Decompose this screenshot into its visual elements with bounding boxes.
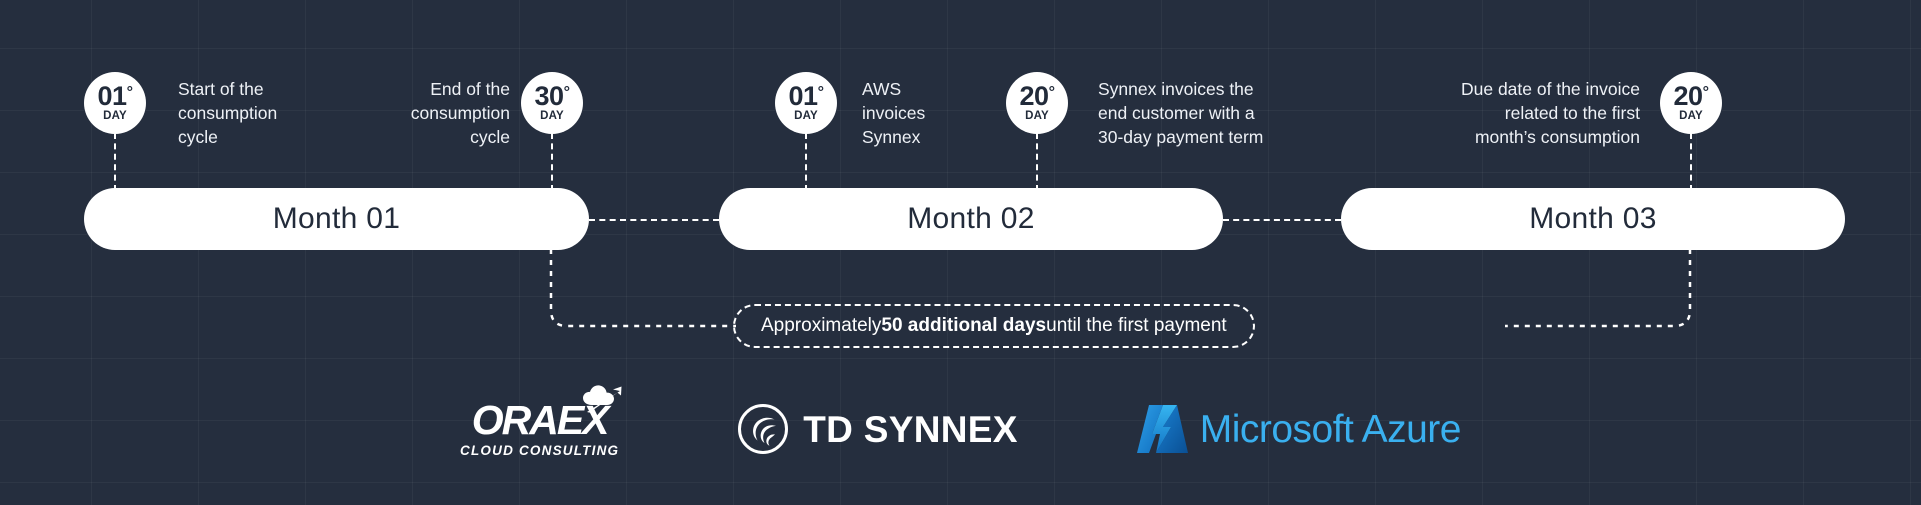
callout-suffix: until the first payment [1046, 315, 1227, 337]
callout-prefix: Approximately [761, 315, 881, 337]
milestone-caption-m2-aws: AWS invoices Synnex [862, 78, 1012, 150]
milestone-badge-m3-due-date[interactable]: 20° DAY [1660, 72, 1722, 134]
degree-icon: ° [127, 85, 133, 101]
badge-day-number-m1-end: 30° [535, 84, 570, 110]
milestone-caption-m1-end: End of the consumption cycle [330, 78, 510, 150]
degree-icon: ° [818, 85, 824, 101]
oraex-tagline: CLOUD CONSULTING [460, 444, 619, 458]
badge-day-label-m1-end: DAY [540, 111, 564, 123]
badge-day-number-m2-aws: 01° [789, 84, 824, 110]
logo-microsoft-azure: Microsoft Azure [1136, 403, 1461, 455]
td-synnex-swirl-icon [737, 403, 789, 455]
logo-oraex: ORAEX CLOUD CONSULTING [460, 400, 619, 458]
badge-stem-m1-end [551, 133, 553, 191]
callout-highlight: 50 additional days [881, 315, 1046, 337]
badge-day-number-m2-synnex: 20° [1020, 84, 1055, 110]
pill-connector-1-2 [589, 219, 719, 221]
month-pill-label: Month 01 [273, 202, 400, 236]
azure-wordmark: Microsoft Azure [1200, 410, 1461, 449]
oraex-wordmark: ORAEX [472, 400, 608, 441]
pill-connector-2-3 [1223, 219, 1341, 221]
azure-a-icon [1136, 403, 1192, 455]
badge-stem-m2-synnex [1036, 133, 1038, 191]
month-pill-month-03[interactable]: Month 03 [1341, 188, 1845, 250]
milestone-badge-m1-end[interactable]: 30° DAY [521, 72, 583, 134]
milestone-caption-m2-synnex: Synnex invoices the end customer with a … [1098, 78, 1348, 150]
badge-day-number-m3-due: 20° [1674, 84, 1709, 110]
badge-day-label-m1-start: DAY [103, 111, 127, 123]
partner-logos: ORAEX CLOUD CONSULTING TD SYNNEX [0, 386, 1921, 472]
badge-stem-m3-due [1690, 133, 1692, 191]
timeline-infographic: 01° DAY Start of the consumption cycle 3… [0, 0, 1921, 505]
degree-icon: ° [1703, 85, 1709, 101]
month-pill-label: Month 02 [907, 202, 1034, 236]
badge-stem-m2-aws [805, 133, 807, 191]
month-pill-label: Month 03 [1529, 202, 1656, 236]
badge-day-number-m1-start: 01° [98, 84, 133, 110]
additional-days-callout: Approximately 50 additional days until t… [733, 304, 1255, 348]
degree-icon: ° [564, 85, 570, 101]
logo-td-synnex: TD SYNNEX [737, 403, 1017, 455]
month-pill-month-02[interactable]: Month 02 [719, 188, 1223, 250]
degree-icon: ° [1049, 85, 1055, 101]
badge-day-label-m2-aws: DAY [794, 111, 818, 123]
milestone-badge-m1-start[interactable]: 01° DAY [84, 72, 146, 134]
badge-day-label-m3-due: DAY [1679, 111, 1703, 123]
milestone-caption-m3-due: Due date of the invoice related to the f… [1390, 78, 1640, 150]
month-pill-month-01[interactable]: Month 01 [84, 188, 589, 250]
milestone-badge-m2-aws-invoice[interactable]: 01° DAY [775, 72, 837, 134]
badge-stem-m1-start [114, 133, 116, 191]
cloud-arrow-icon [580, 383, 624, 413]
badge-day-label-m2-synnex: DAY [1025, 111, 1049, 123]
milestone-badge-m2-synnex-invoice[interactable]: 20° DAY [1006, 72, 1068, 134]
td-synnex-wordmark: TD SYNNEX [803, 411, 1017, 448]
